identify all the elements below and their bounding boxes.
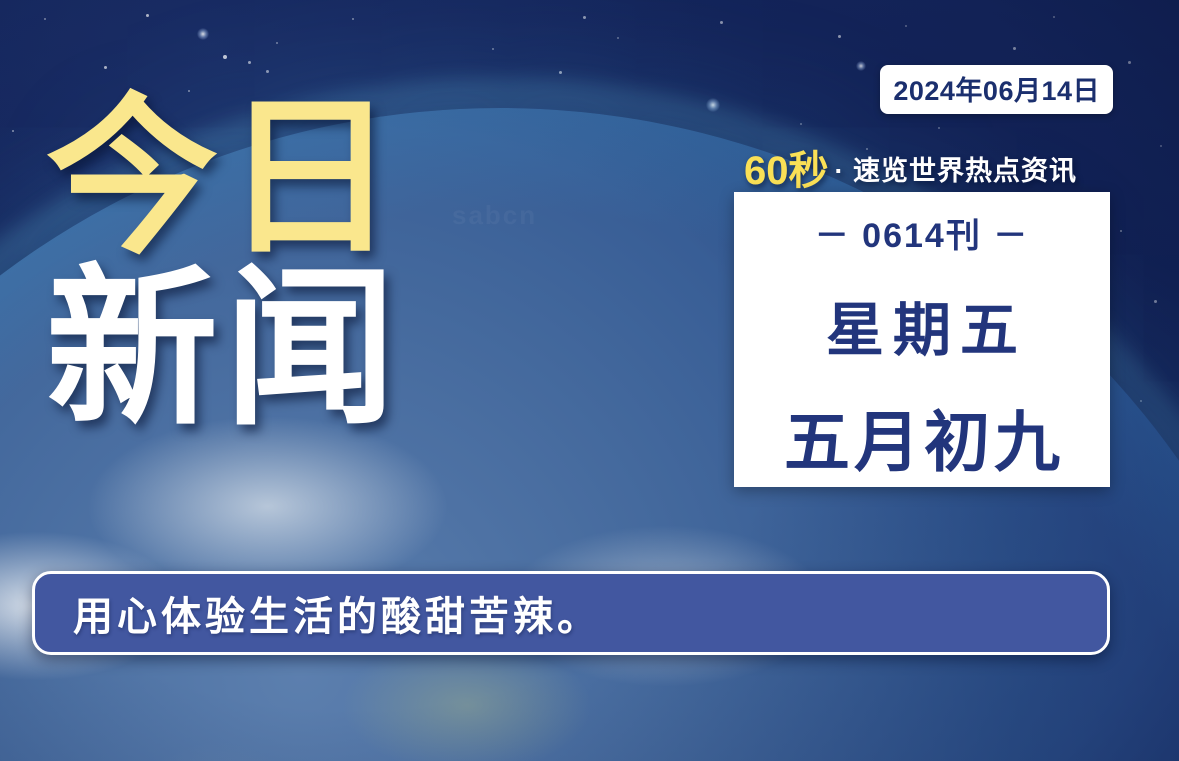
tagline-highlight: 60秒 — [744, 149, 829, 193]
tagline-rest: · 速览世界热点资讯 — [835, 156, 1078, 186]
tagline: 60秒· 速览世界热点资讯 — [744, 138, 1077, 196]
date-card: － 0614刊 － 星期五 五月初九 — [734, 192, 1110, 487]
card-weekday: 星期五 — [817, 283, 1027, 367]
slogan-banner: 用心体验生活的酸甜苦辣。 — [32, 571, 1110, 655]
poster-canvas: sabcn 2024年06月14日 今日 新闻 60秒· 速览世界热点资讯 － … — [0, 0, 1179, 761]
date-badge: 2024年06月14日 — [880, 65, 1113, 114]
title-line-xinwen: 新闻 — [46, 267, 402, 432]
poster-title: 今日 新闻 — [46, 96, 402, 432]
card-issue-number: － 0614刊 － — [815, 208, 1030, 257]
watermark-text: sabcn — [452, 200, 537, 231]
title-line-jinri: 今日 — [46, 96, 402, 261]
slogan-text: 用心体验生活的酸甜苦辣。 — [73, 584, 601, 642]
card-lunar-date: 五月初九 — [780, 389, 1064, 485]
